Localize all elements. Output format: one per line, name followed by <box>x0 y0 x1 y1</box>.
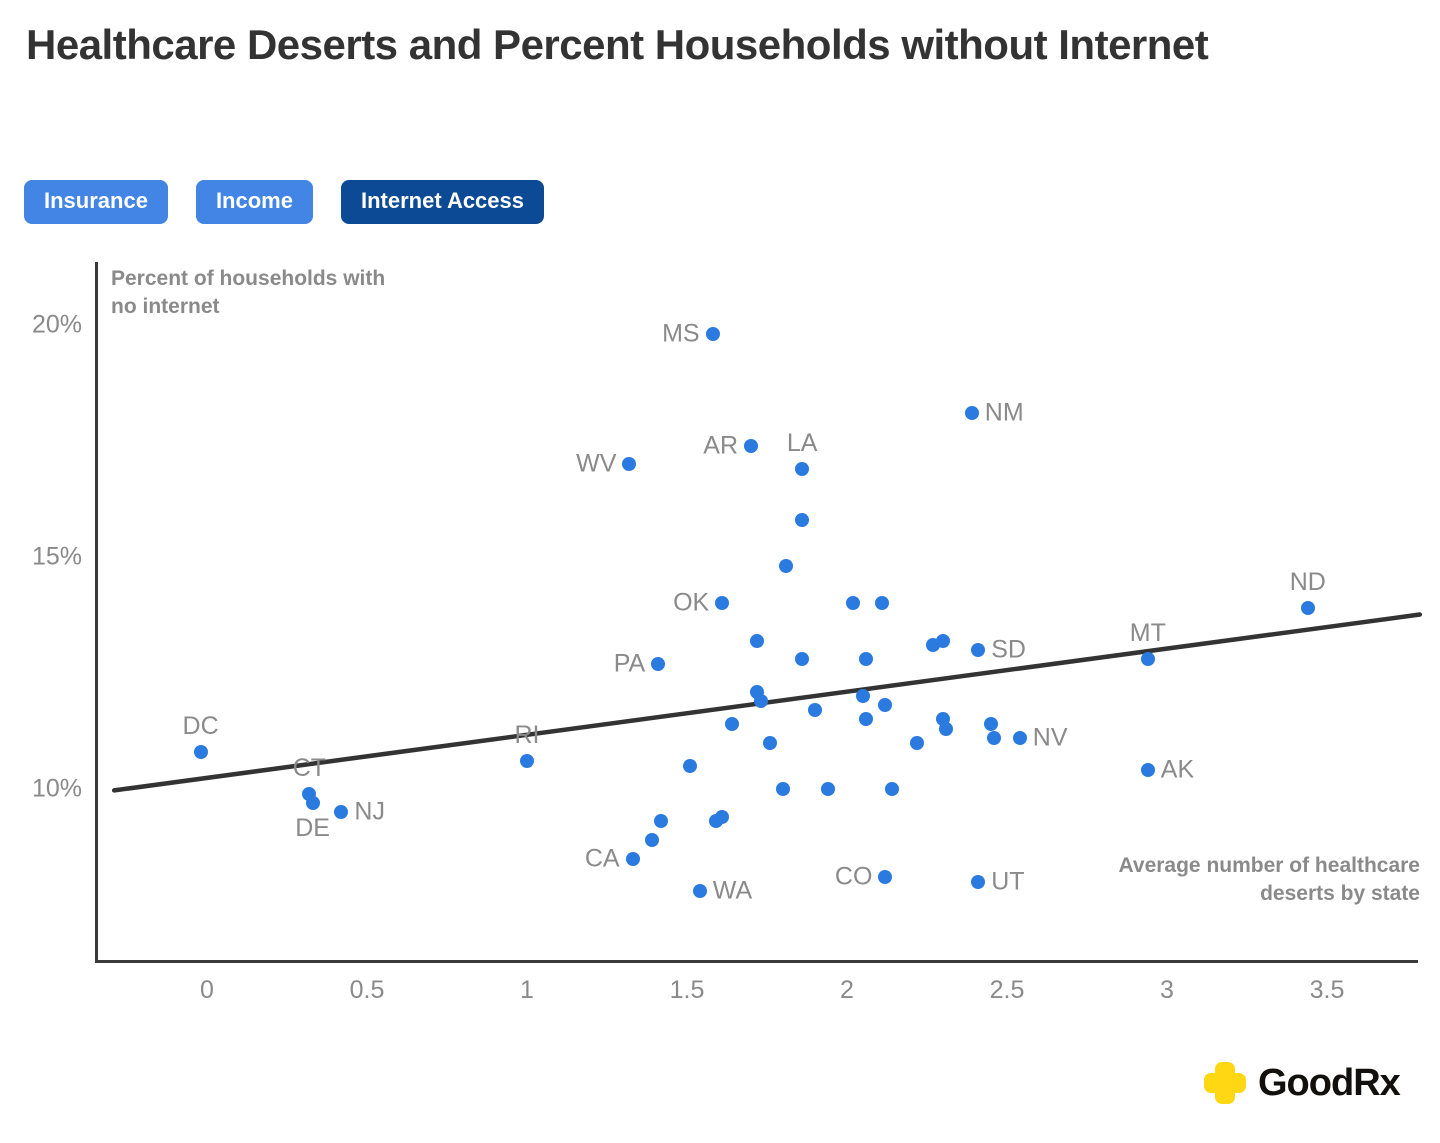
data-point[interactable] <box>856 689 870 703</box>
data-point-ut[interactable] <box>971 875 985 889</box>
data-point-la[interactable] <box>795 462 809 476</box>
logo-wordmark: GoodRx <box>1258 1064 1400 1102</box>
x-axis-tick-label: 2.5 <box>967 976 1047 1005</box>
data-point[interactable] <box>795 513 809 527</box>
data-point[interactable] <box>910 736 924 750</box>
data-point[interactable] <box>725 717 739 731</box>
data-point-co[interactable] <box>878 870 892 884</box>
data-point[interactable] <box>715 810 729 824</box>
metric-toggle-group: Insurance Income Internet Access <box>24 180 544 224</box>
point-label-nj: NJ <box>354 798 385 827</box>
point-label-ut: UT <box>991 867 1024 896</box>
data-point[interactable] <box>936 634 950 648</box>
point-label-wa: WA <box>713 877 752 906</box>
data-point-ok[interactable] <box>715 596 729 610</box>
point-label-pa: PA <box>614 649 646 678</box>
point-label-ca: CA <box>585 844 620 873</box>
x-axis-tick-label: 0.5 <box>327 976 407 1005</box>
point-label-dc: DC <box>183 712 219 741</box>
chart-card: Healthcare Deserts and Percent Household… <box>0 0 1440 1143</box>
toggle-internet-access[interactable]: Internet Access <box>341 180 544 224</box>
point-label-la: LA <box>787 429 818 458</box>
toggle-insurance[interactable]: Insurance <box>24 180 168 224</box>
x-axis-line <box>95 960 1418 963</box>
x-axis-tick-label: 3.5 <box>1287 976 1367 1005</box>
plus-cross-icon <box>1204 1062 1246 1104</box>
y-axis-tick-label: 15% <box>6 543 82 572</box>
data-point[interactable] <box>808 703 822 717</box>
data-point-wa[interactable] <box>693 884 707 898</box>
data-point[interactable] <box>754 694 768 708</box>
data-point-ri[interactable] <box>520 754 534 768</box>
data-point[interactable] <box>885 782 899 796</box>
data-point-ar[interactable] <box>744 439 758 453</box>
data-point[interactable] <box>987 731 1001 745</box>
x-axis-tick-label: 3 <box>1127 976 1207 1005</box>
data-point-nd[interactable] <box>1301 601 1315 615</box>
data-point-ca[interactable] <box>626 852 640 866</box>
y-axis-tick-label: 10% <box>6 775 82 804</box>
data-point[interactable] <box>750 634 764 648</box>
data-point[interactable] <box>645 833 659 847</box>
point-label-co: CO <box>835 863 873 892</box>
point-label-nm: NM <box>985 399 1024 428</box>
data-point-nj[interactable] <box>334 805 348 819</box>
data-point[interactable] <box>779 559 793 573</box>
y-axis-caption: Percent of households with no internet <box>111 265 411 320</box>
point-label-ms: MS <box>662 320 700 349</box>
y-axis-tick-label: 20% <box>6 311 82 340</box>
data-point[interactable] <box>878 698 892 712</box>
data-point-nv[interactable] <box>1013 731 1027 745</box>
data-point[interactable] <box>776 782 790 796</box>
page-title: Healthcare Deserts and Percent Household… <box>26 18 1336 72</box>
data-point[interactable] <box>763 736 777 750</box>
data-point-pa[interactable] <box>651 657 665 671</box>
data-point-nm[interactable] <box>965 406 979 420</box>
data-point[interactable] <box>683 759 697 773</box>
x-axis-tick-label: 1.5 <box>647 976 727 1005</box>
point-label-ok: OK <box>673 589 709 618</box>
point-label-sd: SD <box>991 635 1026 664</box>
x-axis-tick-label: 1 <box>487 976 567 1005</box>
point-label-ar: AR <box>703 431 738 460</box>
point-label-mt: MT <box>1130 619 1166 648</box>
x-axis-tick-label: 2 <box>807 976 887 1005</box>
point-label-ak: AK <box>1161 756 1194 785</box>
data-point-sd[interactable] <box>971 643 985 657</box>
data-point-mt[interactable] <box>1141 652 1155 666</box>
goodrx-logo: GoodRx <box>1204 1062 1400 1104</box>
y-axis-line <box>95 262 98 962</box>
data-point[interactable] <box>654 814 668 828</box>
point-label-wv: WV <box>576 450 616 479</box>
point-label-de: DE <box>295 814 330 843</box>
point-label-nv: NV <box>1033 723 1068 752</box>
point-label-ri: RI <box>515 721 540 750</box>
data-point[interactable] <box>795 652 809 666</box>
data-point[interactable] <box>984 717 998 731</box>
x-axis-tick-label: 0 <box>167 976 247 1005</box>
scatter-plot: Percent of households with no internet A… <box>0 0 1440 1143</box>
data-point[interactable] <box>859 712 873 726</box>
data-point-wv[interactable] <box>622 457 636 471</box>
toggle-income[interactable]: Income <box>196 180 313 224</box>
point-label-nd: ND <box>1290 568 1326 597</box>
data-point-ak[interactable] <box>1141 763 1155 777</box>
point-label-ct: CT <box>293 754 326 783</box>
data-point[interactable] <box>821 782 835 796</box>
data-point[interactable] <box>939 722 953 736</box>
data-point-de[interactable] <box>306 796 320 810</box>
data-point[interactable] <box>846 596 860 610</box>
data-point-ms[interactable] <box>706 327 720 341</box>
x-axis-caption: Average number of healthcare deserts by … <box>1080 852 1420 907</box>
data-point[interactable] <box>859 652 873 666</box>
data-point-dc[interactable] <box>194 745 208 759</box>
data-point[interactable] <box>875 596 889 610</box>
trend-line <box>0 0 1440 1143</box>
